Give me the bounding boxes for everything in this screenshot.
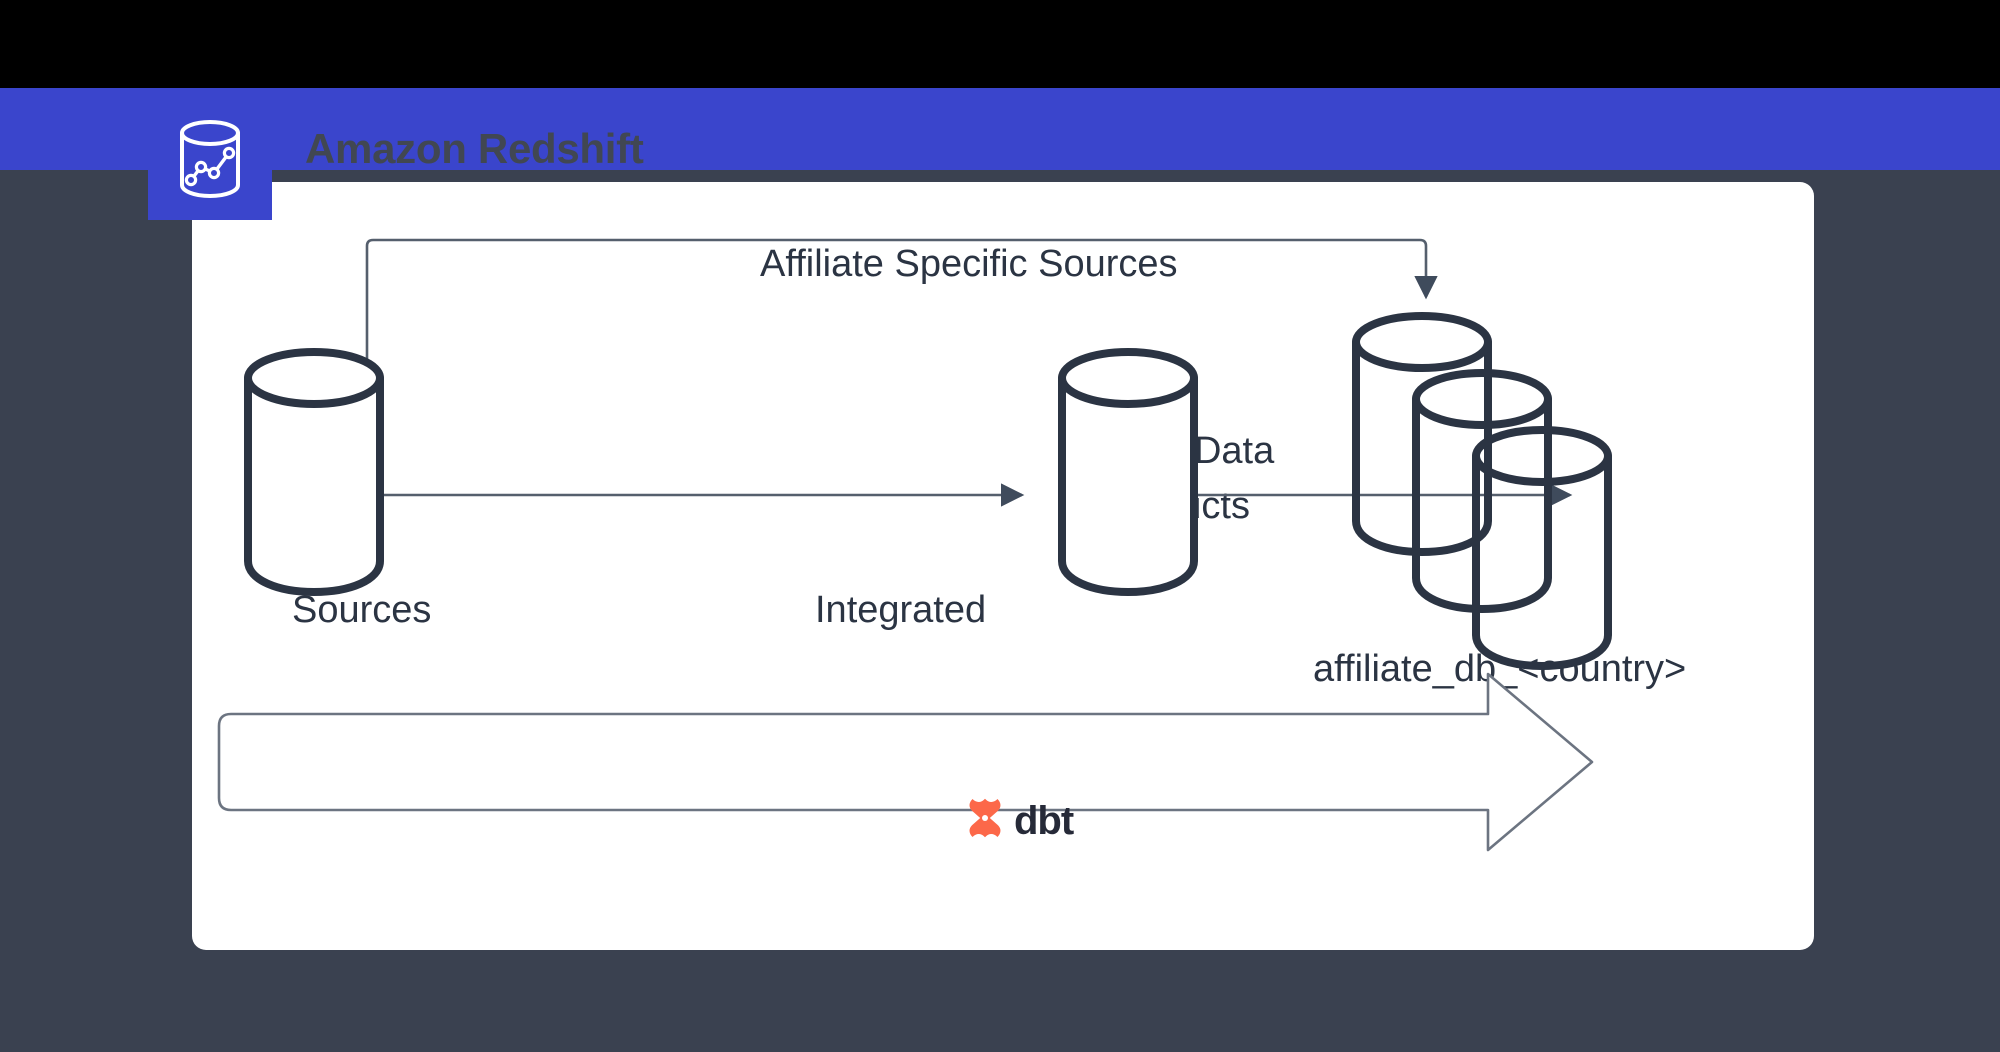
node-affiliate-db-stack [1356,316,1608,666]
background-strip-lower [0,170,2000,182]
database-analytics-icon [174,117,246,201]
dbt-wordmark: dbt [1014,801,1073,841]
node-integrated-cylinder [1062,352,1194,592]
dbt-logo: dbt [962,795,1073,846]
dbt-x-icon [962,795,1008,846]
edge-affiliate-specific-sources [367,240,1426,361]
screenshot-stage: Amazon Redshift [0,0,2000,1052]
redshift-badge [148,98,272,220]
brand-band [0,88,2000,162]
top-black-bar [0,0,2000,88]
page-title: Amazon Redshift [305,124,644,174]
brand-band-underline [0,162,2000,170]
node-sources-cylinder [248,352,380,592]
dbt-pipeline-arrow [219,674,1592,850]
